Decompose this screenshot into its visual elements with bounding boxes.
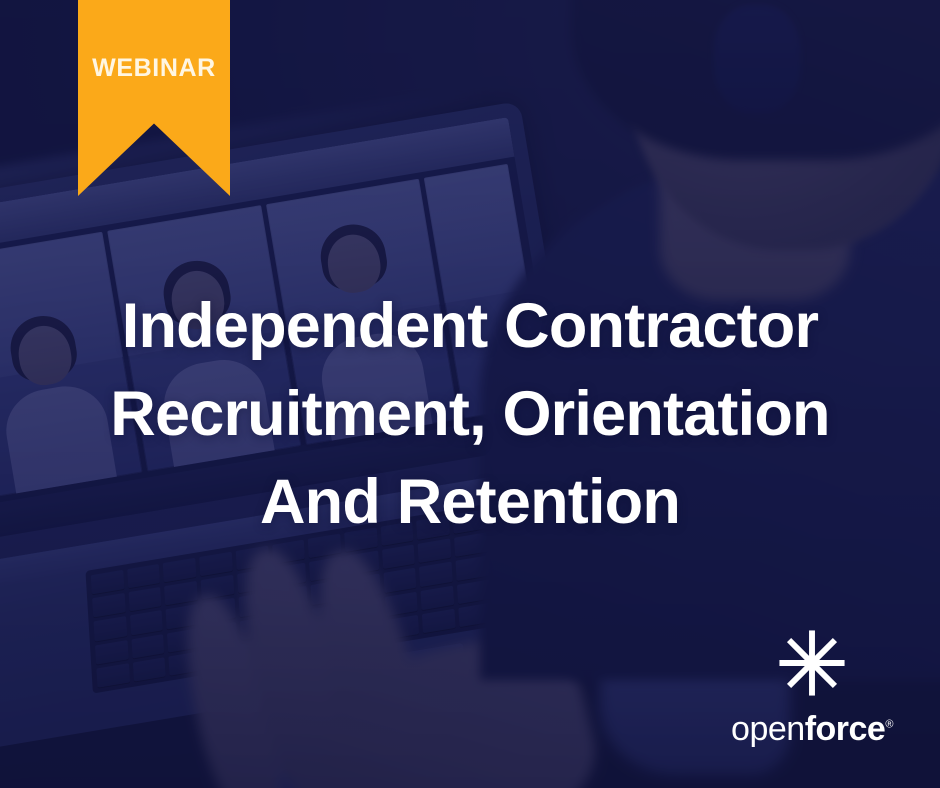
registered-trademark-symbol: ® bbox=[885, 719, 893, 731]
openforce-logo: openforce® bbox=[722, 626, 902, 746]
openforce-wordmark: openforce® bbox=[722, 712, 902, 746]
webinar-promo-card: WEBINAR Independent Contractor Recruitme… bbox=[0, 0, 940, 788]
page-title-line-1: Independent Contractor bbox=[60, 282, 880, 370]
wordmark-force: force bbox=[805, 710, 886, 748]
page-title-line-2: Recruitment, Orientation bbox=[60, 370, 880, 458]
wordmark-open: open bbox=[731, 710, 805, 748]
webinar-ribbon-label: WEBINAR bbox=[92, 56, 216, 81]
openforce-starburst-icon bbox=[775, 626, 849, 700]
page-title-line-3: And Retention bbox=[60, 458, 880, 546]
page-title: Independent Contractor Recruitment, Orie… bbox=[0, 282, 940, 546]
